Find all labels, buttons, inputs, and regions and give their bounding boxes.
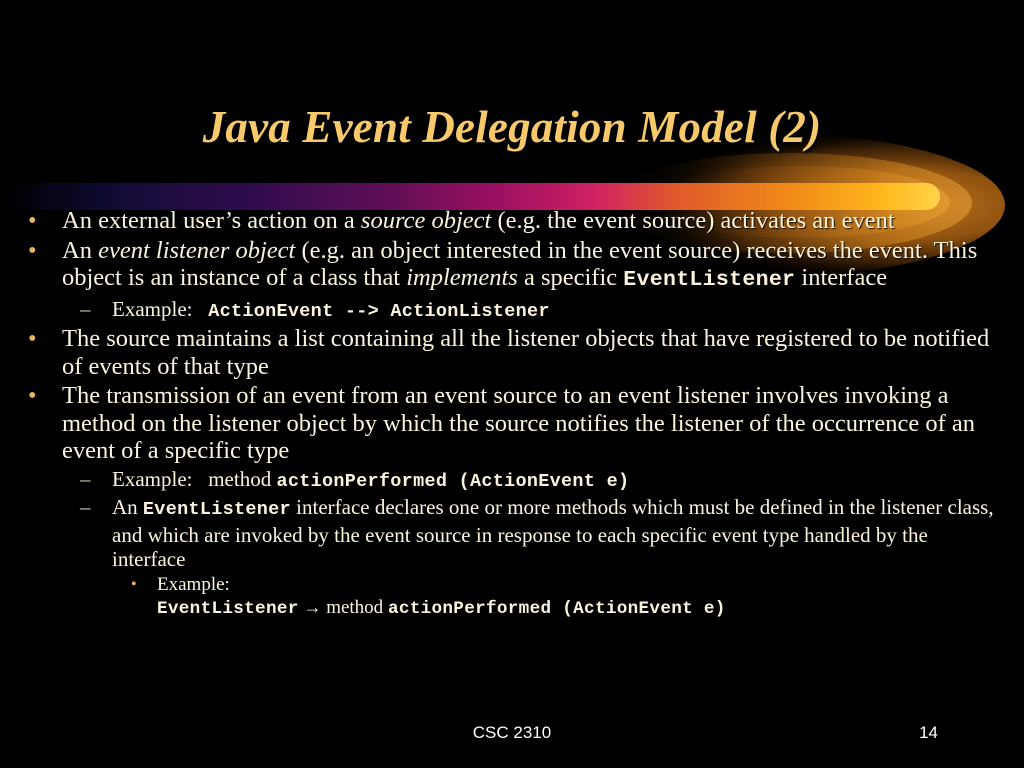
bullet-marker-icon: • (28, 237, 37, 265)
text-segment: EventListener (157, 599, 299, 619)
subsubbullet-eventlistener-mapping: EventListener → method actionPerformed (… (0, 596, 1024, 621)
text-segment: ActionEvent --> ActionListener (208, 301, 550, 322)
text-segment: event listener object (98, 237, 295, 264)
bullet-marker-icon: – (80, 467, 91, 492)
text-segment: An (112, 495, 143, 519)
text-segment: EventListener (143, 499, 291, 520)
bullet-transmission-of-event: •The transmission of an event from an ev… (0, 382, 1024, 465)
text-segment: actionPerformed (ActionEvent e) (276, 471, 629, 492)
bullet-marker-icon: – (80, 297, 91, 322)
subbullet-example-actionevent: –Example: ActionEvent --> ActionListener (0, 297, 1024, 325)
text-segment: An (62, 237, 98, 264)
subbullet-example-method-actionperformed: –Example: method actionPerformed (Action… (0, 467, 1024, 495)
bullet-marker-icon: • (28, 382, 37, 410)
slide-canvas: Java Event Delegation Model (2) •An exte… (0, 0, 1024, 768)
bullet-marker-icon: • (28, 325, 37, 353)
slide-body: •An external user’s action on a source o… (0, 207, 1024, 621)
page-title: Java Event Delegation Model (2) (203, 100, 822, 154)
bullet-source-maintains-list: •The source maintains a list containing … (0, 325, 1024, 380)
text-segment: EventListener (623, 268, 795, 292)
text-segment: Example: method (112, 467, 276, 491)
bullet-event-listener-object: •An event listener object (e.g. an objec… (0, 237, 1024, 295)
text-segment: → (303, 597, 321, 617)
text-segment: a specific (518, 264, 623, 291)
text-segment: The source maintains a list containing a… (62, 325, 989, 380)
text-segment: (e.g. the event source) activates an eve… (491, 207, 894, 234)
text-segment: Example: (112, 297, 208, 321)
text-segment: source object (361, 207, 491, 234)
text-segment: interface (795, 264, 887, 291)
bullet-marker-icon: • (28, 207, 37, 235)
text-segment: Example: (157, 574, 230, 595)
text-segment: An external user’s action on a (62, 207, 361, 234)
footer-page-number: 14 (919, 722, 938, 744)
text-segment: actionPerformed (ActionEvent e) (388, 599, 726, 619)
text-segment: The transmission of an event from an eve… (62, 382, 975, 464)
footer-course-label: CSC 2310 (0, 722, 1024, 744)
bullet-marker-icon: • (131, 573, 137, 596)
bullet-source-object: •An external user’s action on a source o… (0, 207, 1024, 235)
title-container: Java Event Delegation Model (2) (0, 100, 1024, 154)
text-segment: implements (406, 264, 518, 291)
subbullet-eventlistener-declares-methods: –An EventListener interface declares one… (0, 495, 1024, 572)
subsubbullet-example-label: •Example: (0, 573, 1024, 596)
text-segment: method (321, 597, 388, 618)
slide-footer: CSC 2310 14 (0, 722, 1024, 752)
bullet-marker-icon: – (80, 495, 91, 520)
